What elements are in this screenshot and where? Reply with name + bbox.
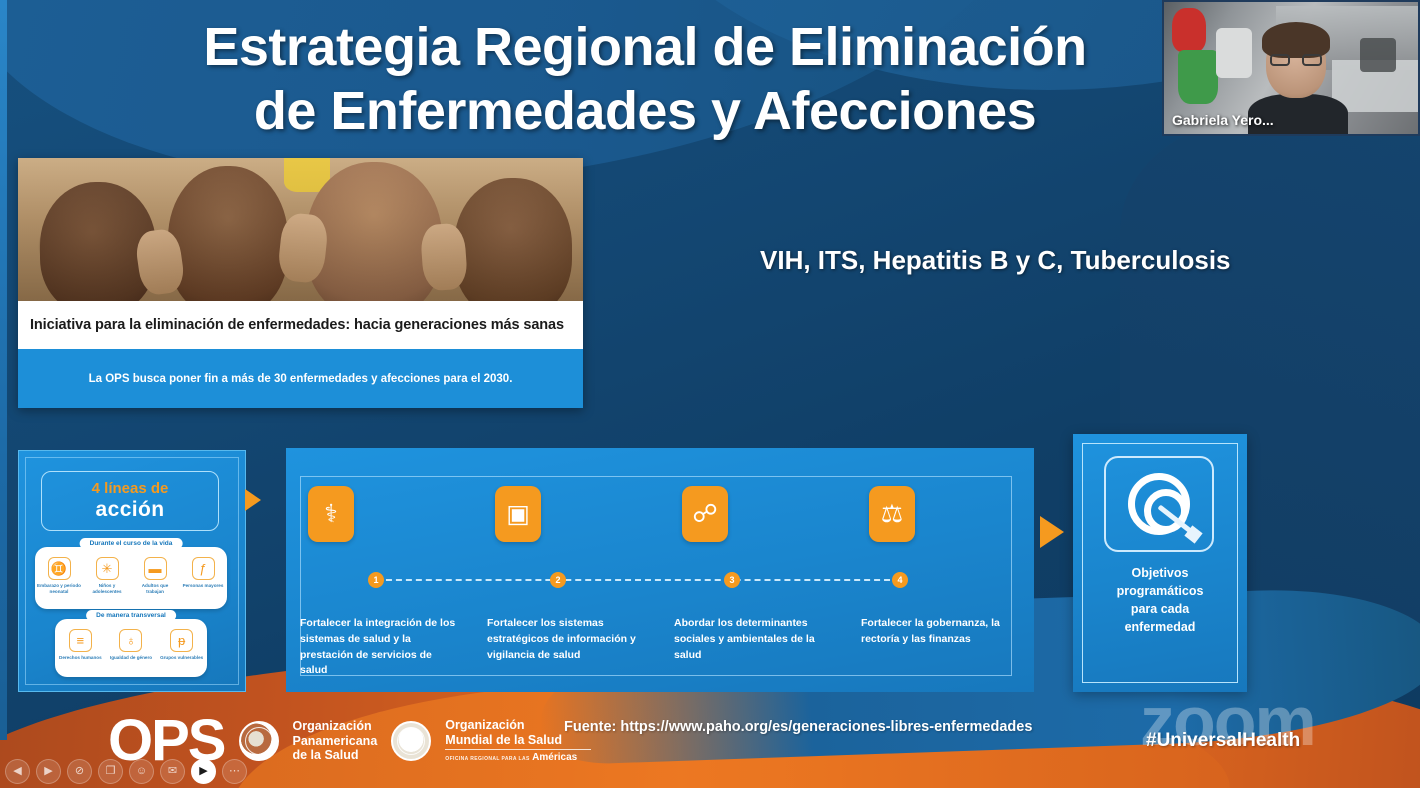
lines-header-line-1: 4 líneas de: [92, 480, 169, 497]
transversal-item: ♁ Igualdad de género: [109, 629, 153, 661]
objectives-line-3: para cada: [1083, 600, 1237, 618]
gender-icon: ♁: [119, 629, 142, 652]
timeline-column: ⚕: [286, 486, 473, 542]
timeline-dot: 4: [892, 572, 908, 588]
health-services-icon: ⚕: [308, 486, 354, 542]
video-red-object: [1172, 8, 1206, 52]
participant-name-label: Gabriela Yero...: [1172, 112, 1274, 128]
transversal-card: De manera transversal ≡ Derechos humanos…: [55, 619, 207, 677]
video-person-glasses: [1270, 54, 1322, 66]
life-course-item-label: Adultos que trabajan: [133, 583, 177, 594]
timeline-dashed-line: [376, 579, 900, 581]
timeline-dot: 1: [368, 572, 384, 588]
timeline-column: ⚖: [847, 486, 1034, 542]
video-person-hair: [1262, 22, 1330, 58]
transversal-item: ≡ Derechos humanos: [58, 629, 102, 661]
timeline-icon-row: ⚕ ▣ ☍ ⚖: [286, 486, 1034, 542]
slide-title: Estrategia Regional de Eliminación de En…: [0, 16, 1290, 143]
governance-icon: ⚖: [869, 486, 915, 542]
paho-name-line-2: Panamericana: [293, 734, 378, 749]
video-white-object: [1216, 28, 1252, 78]
who-region: OFICINA REGIONAL PARA LAS Américas: [445, 752, 591, 764]
pregnancy-icon: ♊: [48, 557, 71, 580]
more-options-button[interactable]: ⋯: [222, 759, 247, 784]
life-course-items: ♊ Embarazo y periodo neonatal ✳ Niños y …: [35, 557, 227, 594]
chat-button[interactable]: ✉: [160, 759, 185, 784]
zoom-screen-share-view: Estrategia Regional de Eliminación de En…: [0, 0, 1420, 788]
slide-title-line-2: de Enfermedades y Afecciones: [0, 80, 1290, 144]
presentation-toolbar[interactable]: ◀ ▶ ⊘ ❐ ☺ ✉ ▶ ⋯: [5, 759, 247, 784]
timeline-step-label: Fortalecer la gobernanza, la rectoría y …: [847, 616, 1034, 679]
target-icon: [1128, 473, 1190, 535]
annotate-off-button[interactable]: ⊘: [67, 759, 92, 784]
objectives-line-2: programáticos: [1083, 582, 1237, 600]
timeline-step-label: Fortalecer la integración de los sistema…: [286, 616, 473, 679]
timeline-column: ▣: [473, 486, 660, 542]
slide-title-line-1: Estrategia Regional de Eliminación: [203, 17, 1086, 77]
life-course-item: ♊ Embarazo y periodo neonatal: [37, 557, 81, 594]
life-course-item-label: Embarazo y periodo neonatal: [37, 583, 81, 594]
participants-button[interactable]: ☺: [129, 759, 154, 784]
life-course-item: ▬ Adultos que trabajan: [133, 557, 177, 594]
screen-share-button[interactable]: ❐: [98, 759, 123, 784]
timeline-dot: 2: [550, 572, 566, 588]
paho-name-line-3: de la Salud: [293, 748, 378, 763]
photo-caption: Iniciativa para la eliminación de enferm…: [18, 301, 583, 349]
timeline-column: ☍: [660, 486, 847, 542]
transversal-item-label: Igualdad de género: [110, 655, 152, 661]
photo-subcaption: La OPS busca poner fin a más de 30 enfer…: [18, 349, 583, 408]
who-seal-icon: [391, 721, 431, 761]
adult-worker-icon: ▬: [144, 557, 167, 580]
lines-count: 4: [92, 480, 100, 497]
who-region-name: Américas: [532, 752, 577, 763]
universal-health-hashtag: #UniversalHealth: [1146, 730, 1300, 752]
information-systems-icon: ▣: [495, 486, 541, 542]
life-course-item: ✳ Niños y adolescentes: [85, 557, 129, 594]
play-button[interactable]: ▶: [36, 759, 61, 784]
initiative-photo-card: Iniciativa para la eliminación de enferm…: [18, 158, 583, 408]
participant-video-tile[interactable]: Gabriela Yero...: [1162, 0, 1420, 136]
video-green-object: [1178, 50, 1218, 104]
transversal-item-label: Derechos humanos: [59, 655, 102, 661]
arrow-right-small-icon: [245, 489, 261, 511]
video-office-shape-3: [1360, 38, 1396, 72]
timeline-label-row: Fortalecer la integración de los sistema…: [286, 616, 1034, 679]
objectives-icon-box: [1104, 456, 1214, 552]
lines-header-text: líneas de: [104, 480, 168, 497]
source-url: Fuente: https://www.paho.org/es/generaci…: [564, 719, 1032, 735]
paho-name-line-1: Organización: [293, 719, 378, 734]
transversal-title: De manera transversal: [86, 610, 176, 621]
lines-of-action-header: 4 líneas de acción: [41, 471, 219, 531]
objectives-panel: Objetivos programáticos para cada enferm…: [1073, 434, 1247, 692]
paho-seal-icon: [239, 721, 279, 761]
equality-bars-icon: ≡: [69, 629, 92, 652]
arrow-right-medium-icon: [1040, 516, 1064, 548]
video-button[interactable]: ▶: [191, 759, 216, 784]
timeline-step-label: Fortalecer los sistemas estratégicos de …: [473, 616, 660, 679]
objectives-line-1: Objetivos: [1083, 564, 1237, 582]
lines-of-action-panel: 4 líneas de acción Durante el curso de l…: [18, 450, 246, 692]
transversal-item-label: Grupos vulnerables: [160, 655, 203, 661]
children-photo: [18, 158, 583, 301]
objectives-text: Objetivos programáticos para cada enferm…: [1083, 564, 1237, 637]
child-icon: ✳: [96, 557, 119, 580]
life-course-item-label: Personas mayores: [183, 583, 224, 589]
photo-overlay: [18, 158, 583, 301]
who-divider: [445, 749, 591, 750]
lines-header-line-2: acción: [96, 498, 165, 522]
timeline-step-label: Abordar los determinantes sociales y amb…: [660, 616, 847, 679]
life-course-item-label: Niños y adolescentes: [85, 583, 129, 594]
paho-name: Organización Panamericana de la Salud: [293, 719, 378, 763]
people-group-icon: ᵽ: [170, 629, 193, 652]
elderly-icon: ƒ: [192, 557, 215, 580]
who-region-prefix: OFICINA REGIONAL PARA LAS: [445, 756, 529, 762]
transversal-item: ᵽ Grupos vulnerables: [160, 629, 204, 661]
life-course-title: Durante el curso de la vida: [80, 538, 183, 549]
timeline-dots: 1 2 3 4: [368, 572, 908, 588]
life-course-card: Durante el curso de la vida ♊ Embarazo y…: [35, 547, 227, 609]
strategic-lines-timeline-panel: ⚕ ▣ ☍ ⚖ Fortalecer la integración de los…: [286, 448, 1034, 692]
slide-subtitle: VIH, ITS, Hepatitis B y C, Tuberculosis: [760, 245, 1231, 276]
timeline-dot: 3: [724, 572, 740, 588]
transversal-items: ≡ Derechos humanos ♁ Igualdad de género …: [55, 629, 207, 661]
objectives-line-4: enfermedad: [1083, 618, 1237, 636]
life-course-item: ƒ Personas mayores: [181, 557, 225, 594]
previous-slide-button[interactable]: ◀: [5, 759, 30, 784]
social-determinants-icon: ☍: [682, 486, 728, 542]
